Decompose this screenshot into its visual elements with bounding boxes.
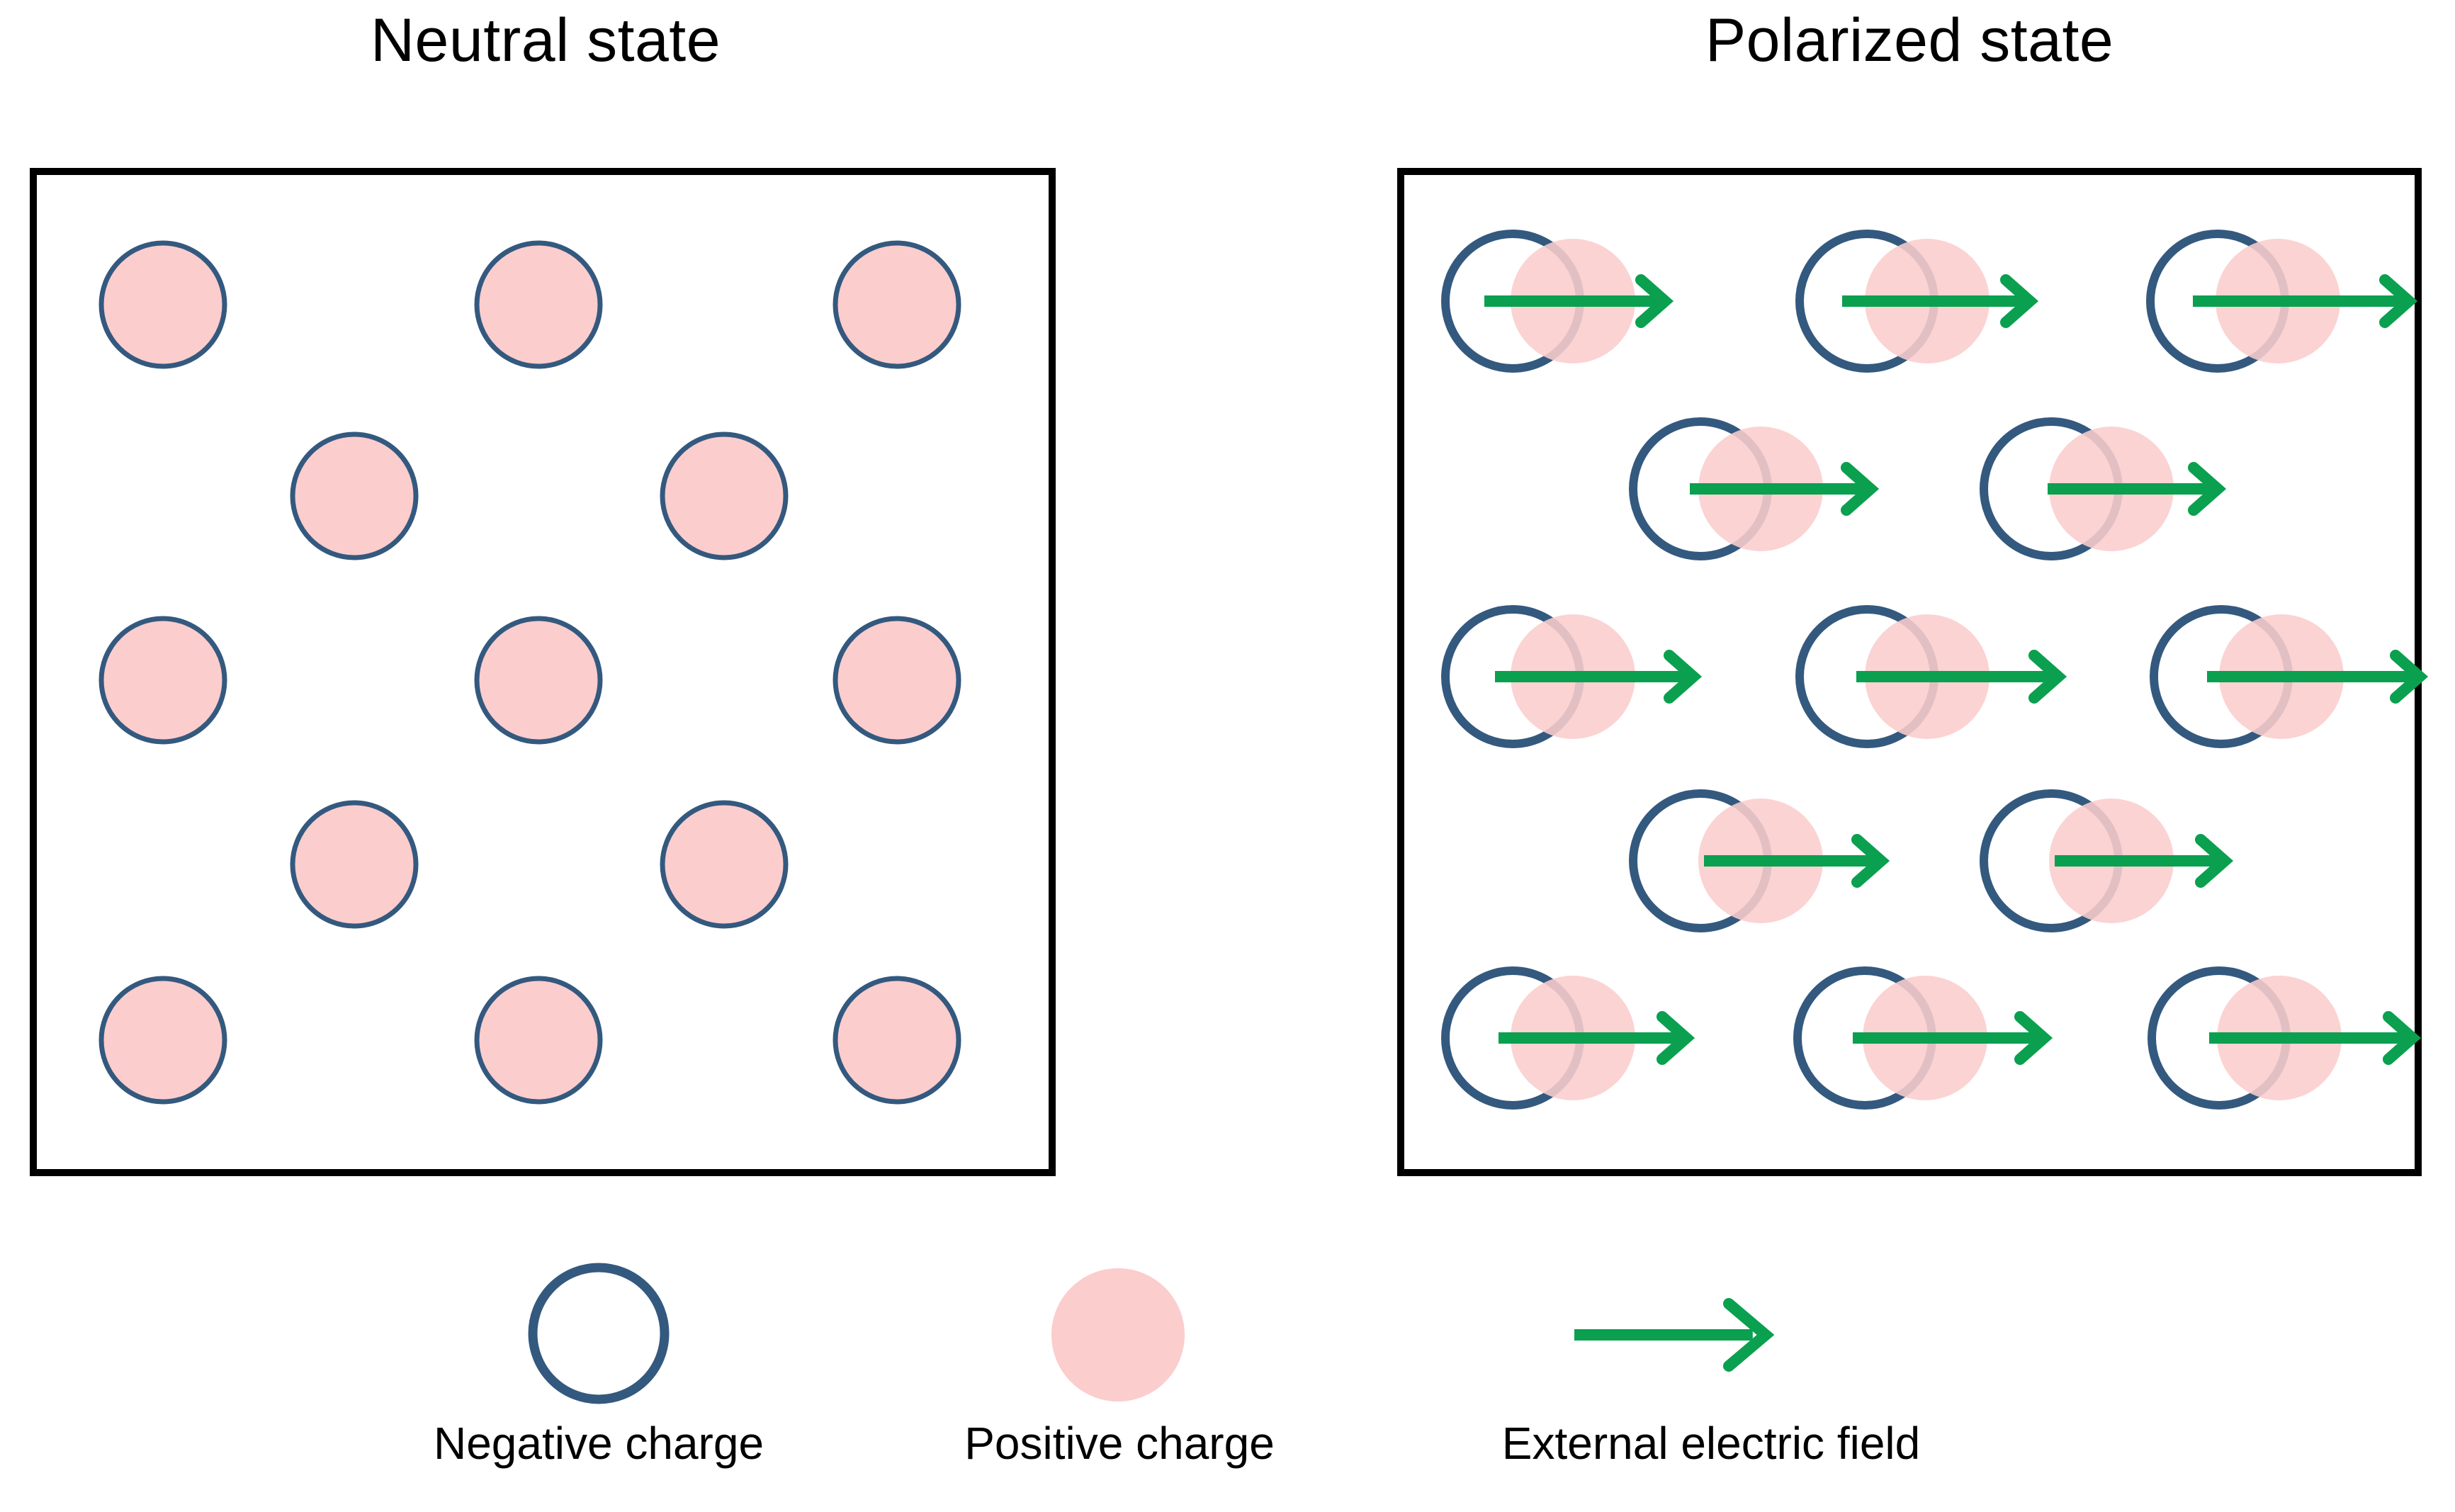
diagram-canvas xyxy=(0,0,2455,1512)
neutral-atom xyxy=(835,978,959,1102)
neutral-atom-circle xyxy=(835,619,959,742)
neutral-atom xyxy=(293,434,416,558)
legend-label-negative-charge: Negative charge xyxy=(351,1417,847,1469)
neutral-atom xyxy=(477,978,600,1102)
neutral-atom xyxy=(662,434,786,558)
neutral-atom-circle xyxy=(477,243,600,366)
legend-positive-charge-icon xyxy=(1051,1268,1185,1401)
neutral-atom-circle xyxy=(101,978,225,1102)
neutral-atom xyxy=(662,803,786,926)
neutral-atom-circle xyxy=(835,243,959,366)
neutral-atom-circle xyxy=(293,803,416,926)
neutral-atom xyxy=(477,619,600,742)
neutral-atom-circle xyxy=(662,434,786,558)
neutral-atom-circle xyxy=(477,619,600,742)
neutral-atom-circle xyxy=(835,978,959,1102)
neutral-atom xyxy=(101,619,225,742)
polarization-diagram: Neutral state Polarized state Negative c… xyxy=(0,0,2455,1512)
legend-negative-charge-icon xyxy=(533,1268,665,1399)
legend-label-external-electric-field: External electric field xyxy=(1413,1417,2009,1469)
neutral-atom-circle xyxy=(662,803,786,926)
legend-label-positive-charge: Positive charge xyxy=(871,1417,1367,1469)
neutral-atom xyxy=(293,803,416,926)
neutral-atom-circle xyxy=(477,978,600,1102)
neutral-atom-circle xyxy=(293,434,416,558)
neutral-atom xyxy=(477,243,600,366)
neutral-atom xyxy=(101,243,225,366)
neutral-atom xyxy=(101,978,225,1102)
neutral-atom xyxy=(835,619,959,742)
neutral-atom xyxy=(835,243,959,366)
neutral-atom-circle xyxy=(101,243,225,366)
neutral-atom-circle xyxy=(101,619,225,742)
legend-glyph-group xyxy=(533,1268,1766,1401)
